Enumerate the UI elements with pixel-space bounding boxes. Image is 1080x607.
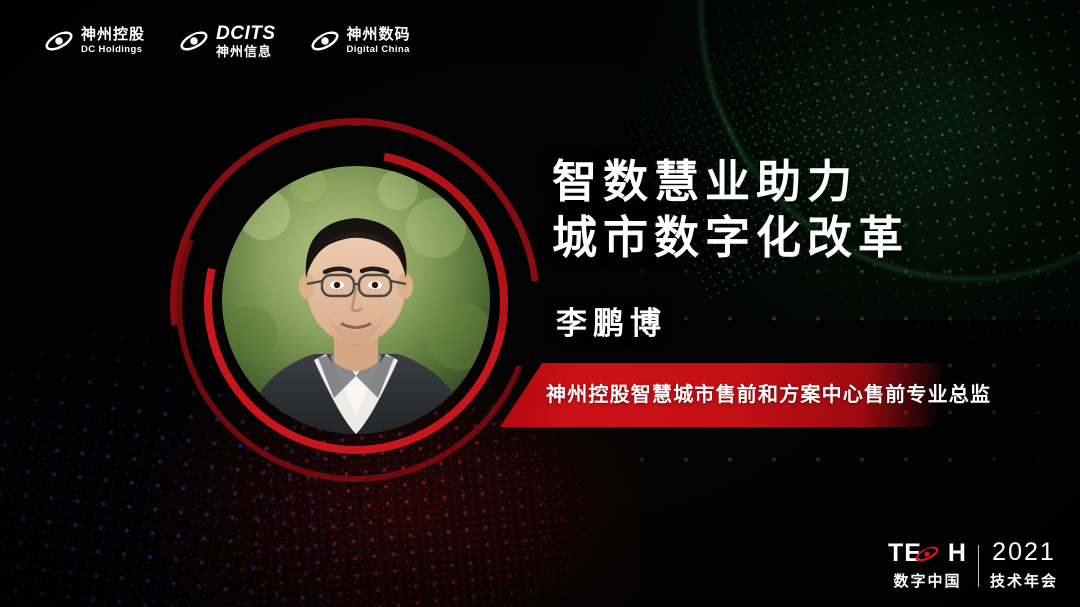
speaker-name: 李鹏博 (556, 298, 667, 343)
avatar (222, 166, 490, 434)
logo-dc-holdings: 神州控股 DC Holdings (44, 27, 145, 55)
tech-letters-right: H (948, 541, 967, 566)
portrait-frame (170, 118, 540, 488)
swoosh-icon (179, 28, 209, 54)
logo-divider (978, 545, 979, 587)
event-logo-year: 2021 技术年会 (990, 540, 1058, 591)
logo-digital-china: 神州数码 Digital China (310, 27, 411, 55)
speaker-position-label: 神州控股智慧城市售前和方案中心售前专业总监 (546, 378, 991, 407)
logo-dcits: DCITS 神州信息 (179, 24, 276, 58)
logo-bar: 神州控股 DC Holdings DCITS 神州信息 神州数码 (44, 24, 411, 58)
event-year-sublabel: 技术年会 (990, 570, 1058, 591)
event-logo-tech: TE H 数字中国 (888, 541, 967, 591)
logo-label-en: DC Holdings (81, 45, 145, 55)
event-logo: TE H 数字中国 2021 技术年会 (888, 540, 1058, 591)
presentation-slide: 神州控股 DC Holdings DCITS 神州信息 神州数码 (0, 0, 1080, 607)
logo-label-en: DCITS (216, 24, 276, 43)
tech-wordmark: TE H (888, 541, 967, 567)
title-line-1: 智数慧业助力 (552, 155, 909, 211)
logo-label-en: Digital China (347, 45, 411, 55)
red-swoosh-icon (914, 544, 940, 564)
speaker-headshot-illustration (222, 166, 490, 434)
swoosh-icon (44, 28, 74, 54)
logo-label-cn: 神州信息 (216, 45, 276, 58)
event-year: 2021 (992, 540, 1056, 565)
tech-sublabel: 数字中国 (893, 570, 961, 591)
title-line-2: 城市数字化改革 (552, 211, 909, 267)
swoosh-icon (310, 28, 340, 54)
logo-label-cn: 神州控股 (81, 27, 145, 42)
page-title: 智数慧业助力 城市数字化改革 (552, 155, 909, 267)
logo-label-cn: 神州数码 (347, 27, 411, 42)
